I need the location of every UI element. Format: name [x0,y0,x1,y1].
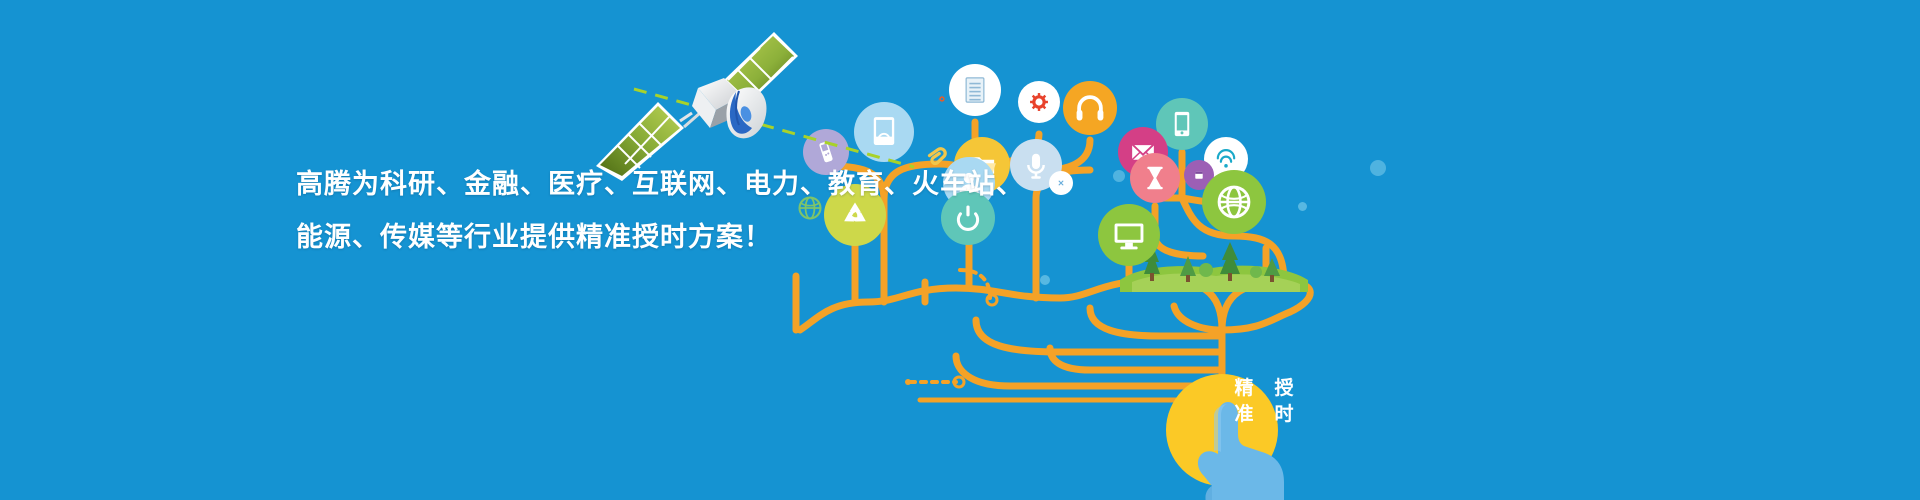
promo-banner: 高腾为科研、金融、医疗、互联网、电力、教育、火车站、 能源、传媒等行业提供精准授… [0,0,1920,500]
smartphone-icon-glyph [1175,112,1190,136]
close-icon[interactable]: 关闭 [1049,171,1073,195]
globe-wire-icon-glyph [800,198,821,219]
recycle-icon[interactable]: 回收 [824,184,886,246]
power-icon-badge [941,191,995,245]
satellite-dish [726,87,766,138]
headphones-icon[interactable]: 耳机 [1063,81,1117,135]
decor-dot-2 [1370,160,1386,176]
document-icon-glyph [966,78,984,102]
gear-orange-icon[interactable]: 齿轮 [939,96,945,102]
gear-orange-icon-glyph [939,96,945,102]
recycle-icon-badge [824,184,886,246]
calendar-icon-glyph [1195,172,1202,179]
gear-red-icon-glyph [1030,93,1048,111]
satellite-solar-panel-lower [596,102,684,181]
globe-wire-icon[interactable]: 地球 [800,198,821,219]
power-icon[interactable]: 电源 [941,191,995,245]
satellite-illustration [588,18,798,183]
headphones-icon-badge [1063,81,1117,135]
gear-red-icon[interactable]: 设置 [1018,81,1060,123]
globe-green-icon[interactable]: 全球网络 [1202,170,1266,234]
hourglass-icon[interactable]: 沙漏 [1130,153,1180,203]
document-icon[interactable]: 文档 [949,64,1001,116]
monitor-green-icon[interactable]: 显示器 [1098,204,1160,266]
